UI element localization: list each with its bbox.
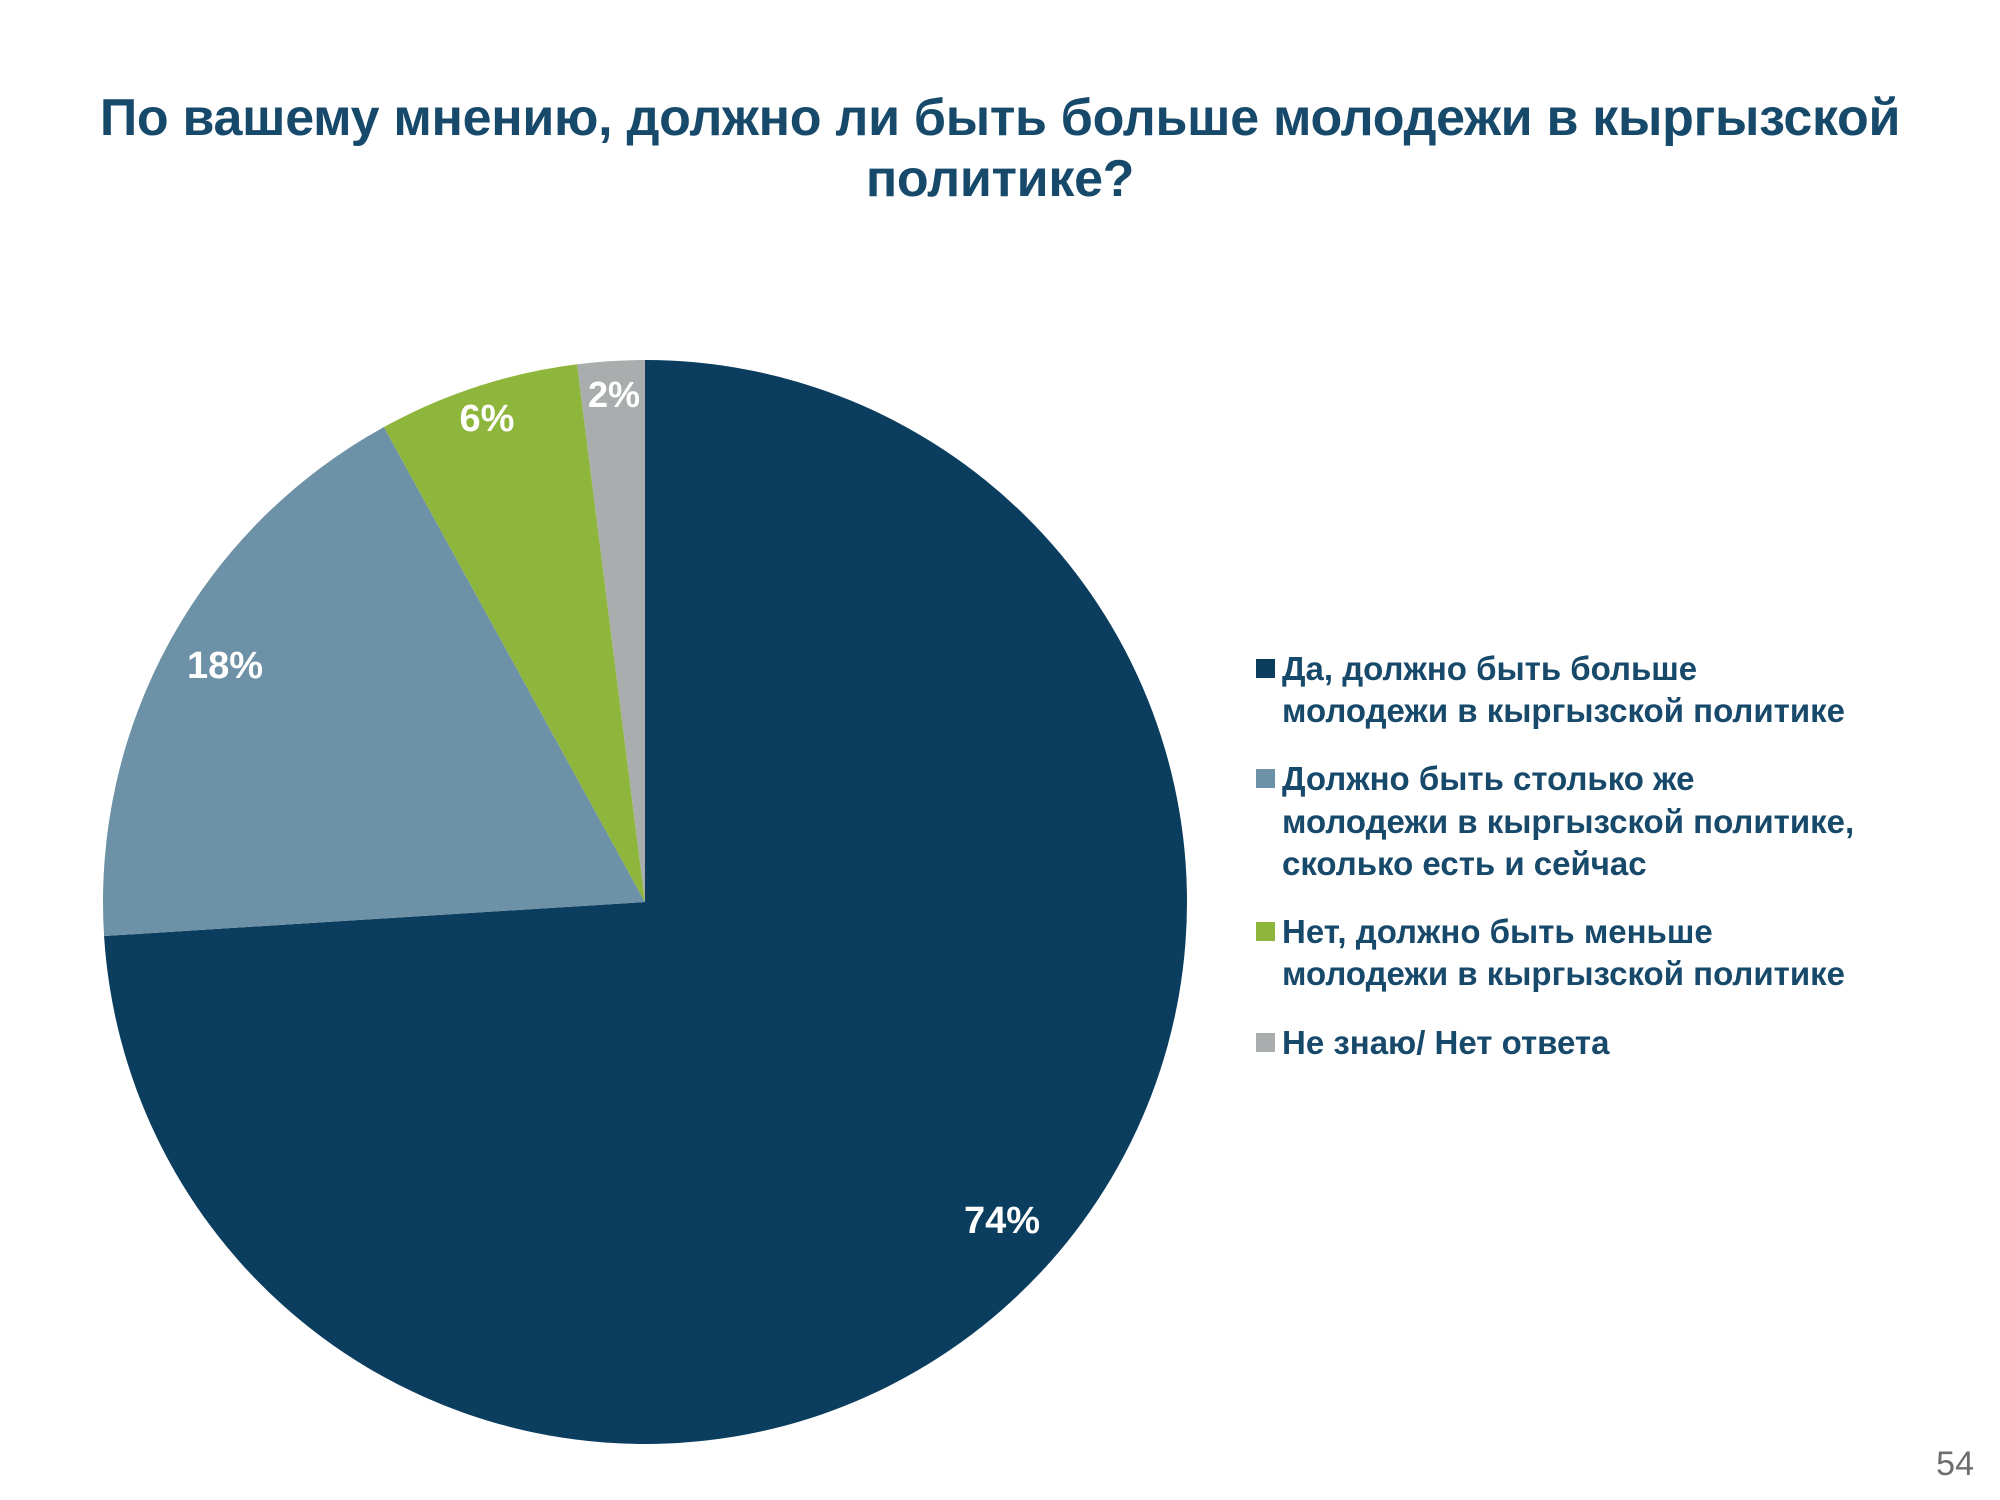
legend-item-dont-know[interactable]: Не знаю/ Нет ответа bbox=[1256, 1022, 1956, 1064]
pie-slice-value-label: 6% bbox=[460, 398, 515, 440]
pie-chart-svg: 74%18%6%2% bbox=[0, 0, 1250, 1500]
legend-marker-dont-know-icon bbox=[1256, 1033, 1275, 1052]
chart-legend: Да, должно быть больше молодежи в кыргыз… bbox=[1256, 648, 1956, 1064]
legend-item-yes-more[interactable]: Да, должно быть больше молодежи в кыргыз… bbox=[1256, 648, 1956, 732]
pie-slice-value-label: 74% bbox=[964, 1200, 1040, 1242]
legend-label-yes-more: Да, должно быть больше молодежи в кыргыз… bbox=[1282, 648, 1857, 732]
page-number: 54 bbox=[1936, 1445, 1974, 1484]
pie-slice-value-label: 18% bbox=[187, 645, 263, 687]
legend-label-same: Должно быть столько же молодежи в кыргыз… bbox=[1282, 758, 1857, 885]
legend-label-less: Нет, должно быть меньше молодежи в кыргы… bbox=[1282, 911, 1857, 995]
legend-label-dont-know: Не знаю/ Нет ответа bbox=[1282, 1022, 1609, 1064]
pie-slice-value-label: 2% bbox=[588, 374, 640, 415]
legend-item-less[interactable]: Нет, должно быть меньше молодежи в кыргы… bbox=[1256, 911, 1956, 995]
legend-marker-same-icon bbox=[1256, 769, 1275, 788]
legend-item-same[interactable]: Должно быть столько же молодежи в кыргыз… bbox=[1256, 758, 1956, 885]
legend-marker-less-icon bbox=[1256, 922, 1275, 941]
legend-marker-yes-more-icon bbox=[1256, 659, 1275, 678]
pie-slices bbox=[103, 360, 1187, 1444]
pie-chart: 74%18%6%2% bbox=[0, 0, 1250, 1500]
